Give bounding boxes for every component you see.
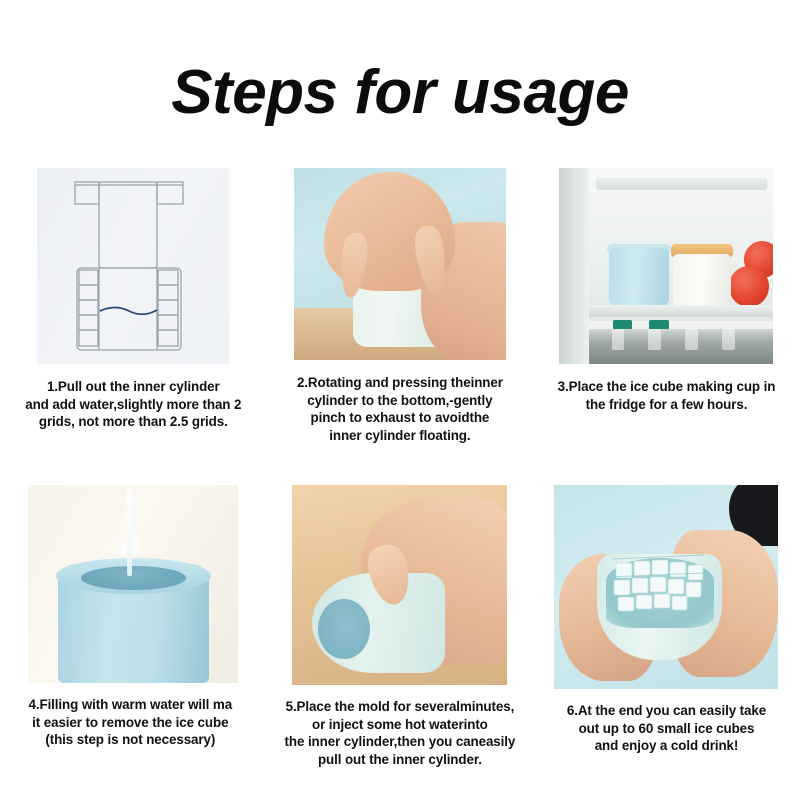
ice-cubes-group: [554, 485, 778, 689]
steps-row-bottom: 4.Filling with warm water will ma it eas…: [0, 485, 800, 768]
water-stream: [127, 489, 132, 576]
blue-ice-cup: [609, 248, 669, 307]
step-4-image: [28, 485, 238, 683]
water-level-line: [100, 308, 157, 315]
steps-grid: 1.Pull out the inner cylinder and add wa…: [0, 168, 800, 768]
white-jar: [673, 254, 731, 307]
step-1: 1.Pull out the inner cylinder and add wa…: [0, 168, 267, 444]
lower-compartment: [589, 329, 773, 364]
step-2-caption: 2.Rotating and pressing theinner cylinde…: [275, 374, 525, 444]
fridge-shelf: [589, 305, 773, 317]
mold-line-drawing: [37, 168, 229, 364]
step-4: 4.Filling with warm water will ma it eas…: [0, 485, 267, 768]
inner-cylinder-hole: [318, 599, 370, 659]
step-2: 2.Rotating and pressing theinner cylinde…: [267, 168, 534, 444]
step-3: 3.Place the ice cube making cup in the f…: [533, 168, 800, 444]
step-6: 6.At the end you can easily take out up …: [533, 485, 800, 768]
step-2-image: [294, 168, 506, 360]
page-title: Steps for usage: [0, 58, 800, 128]
step-5-caption: 5.Place the mold for severalminutes, or …: [271, 698, 529, 768]
bottle: [612, 329, 625, 350]
bottle: [722, 329, 735, 350]
step-1-image: [37, 168, 229, 364]
step-4-caption: 4.Filling with warm water will ma it eas…: [4, 696, 256, 749]
step-3-caption: 3.Place the ice cube making cup in the f…: [541, 378, 791, 413]
tomato-lower: [729, 266, 770, 307]
step-1-caption: 1.Pull out the inner cylinder and add wa…: [8, 378, 258, 431]
step-5: 5.Place the mold for severalminutes, or …: [267, 485, 534, 768]
steps-row-top: 1.Pull out the inner cylinder and add wa…: [0, 168, 800, 444]
step-3-image: [559, 168, 773, 364]
fridge-upper-shelf: [596, 178, 767, 190]
step-6-caption: 6.At the end you can easily take out up …: [537, 702, 795, 755]
step-6-image: [554, 485, 778, 689]
cup-opening: [81, 566, 186, 590]
step-5-image: [292, 485, 507, 685]
bottle: [648, 329, 661, 350]
fridge-door-frame: [559, 168, 589, 364]
bottle: [685, 329, 698, 350]
